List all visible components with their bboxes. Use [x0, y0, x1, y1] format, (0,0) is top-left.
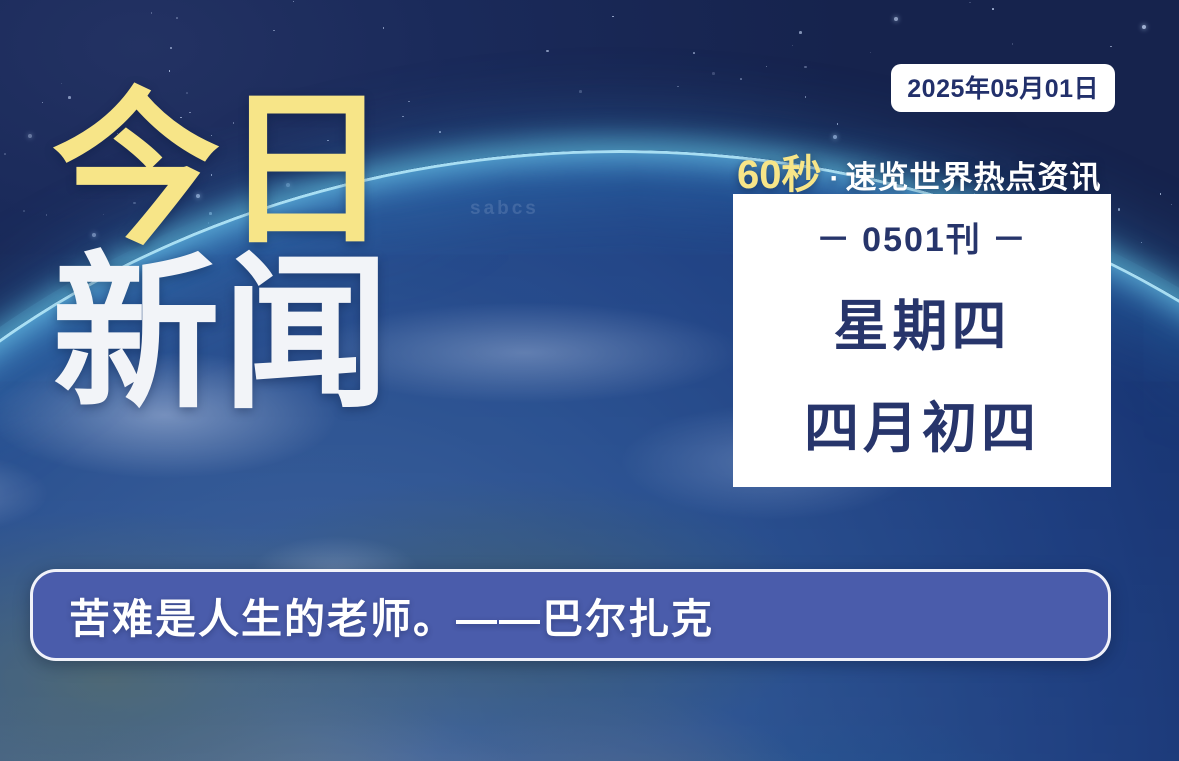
tagline-separator-dot: ·: [830, 162, 840, 196]
tagline-seconds: 60秒: [737, 142, 822, 200]
date-badge: 2025年05月01日: [891, 64, 1115, 112]
page-title-line-1: 今日: [52, 92, 392, 248]
tagline: 60秒 · 速览世界热点资讯: [737, 142, 1102, 200]
page-title-line-2: 新闻: [52, 256, 392, 412]
quote-text: 苦难是人生的老师。——巴尔扎克: [69, 585, 714, 645]
quote-bar: 苦难是人生的老师。——巴尔扎克: [30, 569, 1111, 661]
weekday-label: 星期四: [833, 281, 1010, 361]
issue-info-card: －0501刊－ 星期四 四月初四: [733, 194, 1111, 487]
issue-number: 0501刊: [862, 221, 982, 259]
news-poster: sabcs 今日 新闻 2025年05月01日 60秒 · 速览世界热点资讯 －…: [0, 0, 1179, 761]
issue-line: －0501刊－: [806, 212, 1038, 261]
tagline-text: 速览世界热点资讯: [846, 152, 1102, 197]
issue-dash-left: －: [816, 221, 852, 259]
issue-dash-right: －: [992, 221, 1028, 259]
page-title: 今日 新闻: [52, 92, 392, 412]
watermark-text: sabcs: [470, 198, 539, 220]
lunar-date-label: 四月初四: [804, 383, 1040, 463]
